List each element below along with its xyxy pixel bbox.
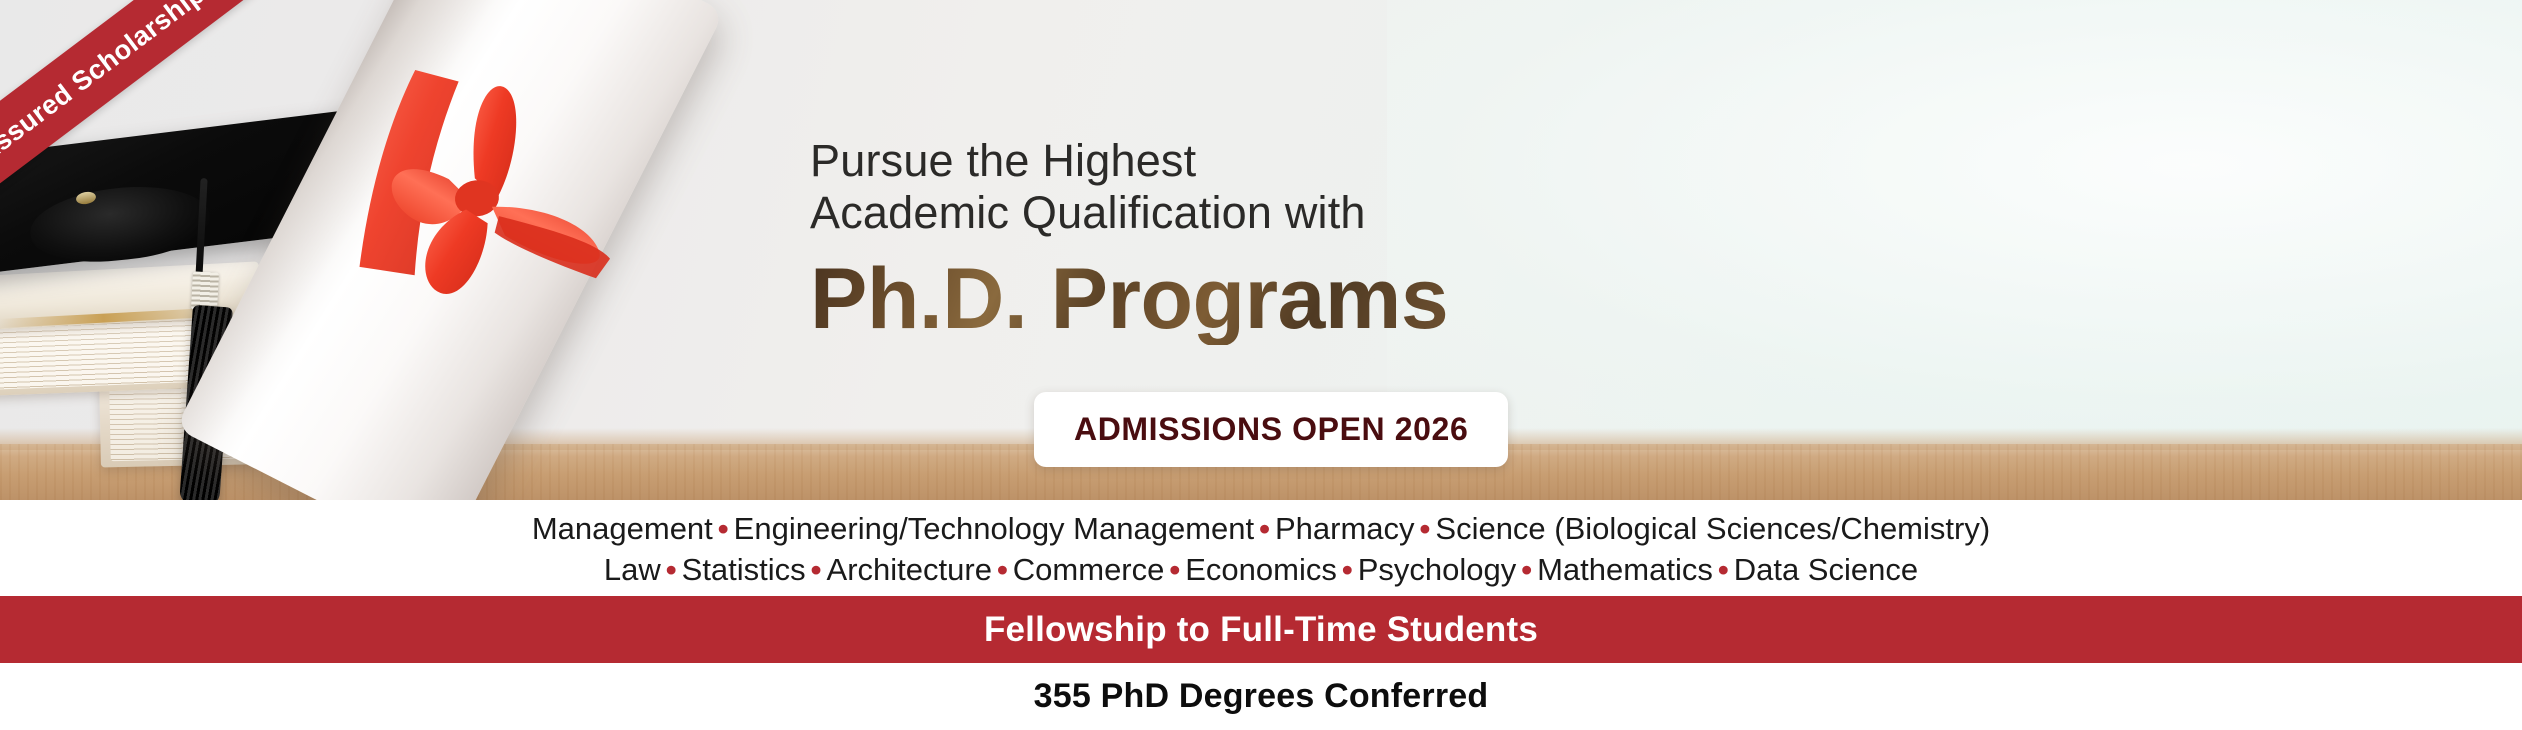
hero-photo: Assured Scholarships Pursue the Highest … [0, 0, 2522, 500]
program-name: Law [604, 552, 661, 587]
bullet-separator-icon: • [1415, 511, 1436, 546]
program-row-2: Law•Statistics•Architecture•Commerce•Eco… [604, 549, 1918, 590]
program-name: Science (Biological Sciences/Chemistry) [1435, 511, 1990, 546]
bullet-separator-icon: • [1516, 552, 1537, 587]
headline-line-1: Pursue the Highest [810, 135, 1448, 187]
headline-line-2: Academic Qualification with [810, 187, 1448, 239]
program-name: Economics [1185, 552, 1337, 587]
wall-glow [1387, 0, 2522, 500]
fellowship-label: Fellowship to Full-Time Students [984, 610, 1538, 650]
red-ribbon-bow-icon [287, 44, 632, 336]
bullet-separator-icon: • [1254, 511, 1275, 546]
program-name: Psychology [1358, 552, 1517, 587]
degrees-conferred-footer: 355 PhD Degrees Conferred [0, 663, 2522, 730]
bullet-separator-icon: • [992, 552, 1013, 587]
program-name: Mathematics [1537, 552, 1713, 587]
bullet-separator-icon: • [806, 552, 827, 587]
program-row-1: Management•Engineering/Technology Manage… [532, 508, 1990, 549]
program-name: Pharmacy [1275, 511, 1415, 546]
phd-programs-banner: Assured Scholarships Pursue the Highest … [0, 0, 2522, 730]
program-name: Architecture [827, 552, 992, 587]
bullet-separator-icon: • [713, 511, 734, 546]
headline-emphasis: Ph.D. Programs [810, 253, 1448, 345]
program-list: Management•Engineering/Technology Manage… [0, 500, 2522, 596]
degrees-conferred-label: 355 PhD Degrees Conferred [1034, 677, 1489, 716]
program-name: Commerce [1013, 552, 1165, 587]
bullet-separator-icon: • [1713, 552, 1734, 587]
bullet-separator-icon: • [1164, 552, 1185, 587]
fellowship-banner: Fellowship to Full-Time Students [0, 596, 2522, 663]
admissions-open-button[interactable]: ADMISSIONS OPEN 2026 [1034, 392, 1508, 467]
hero-headline: Pursue the Highest Academic Qualificatio… [810, 135, 1448, 345]
bullet-separator-icon: • [661, 552, 682, 587]
program-name: Engineering/Technology Management [734, 511, 1254, 546]
admissions-open-label: ADMISSIONS OPEN 2026 [1074, 411, 1468, 447]
program-name: Management [532, 511, 713, 546]
bullet-separator-icon: • [1337, 552, 1358, 587]
program-name: Statistics [682, 552, 806, 587]
program-name: Data Science [1734, 552, 1918, 587]
